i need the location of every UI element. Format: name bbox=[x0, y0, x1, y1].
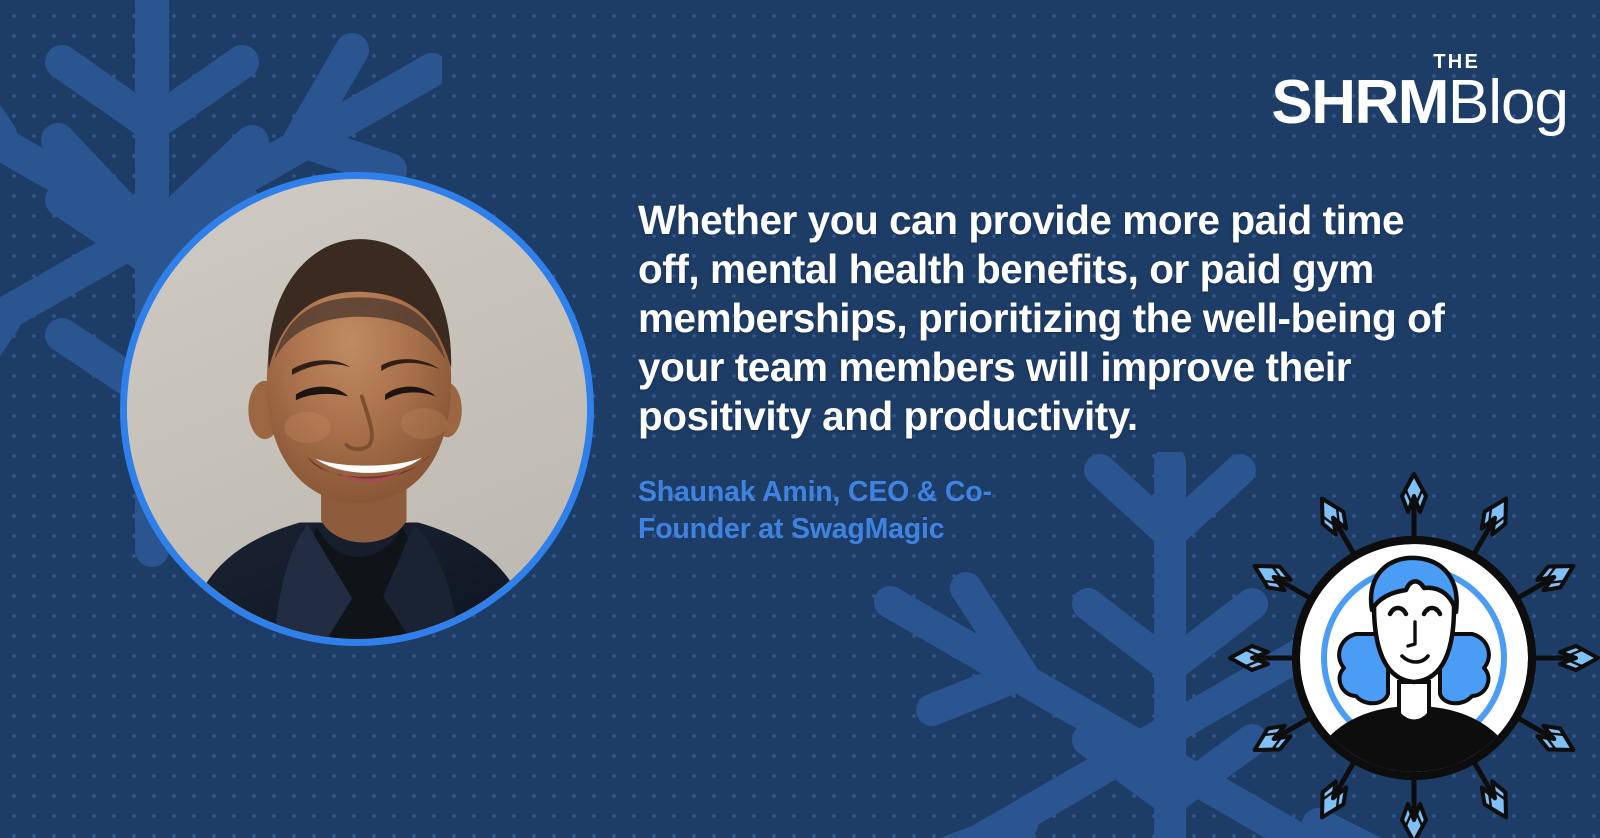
logo-wordmark: SHRMBlog bbox=[1271, 74, 1568, 133]
logo-brand: SHRM bbox=[1271, 68, 1448, 137]
target-arrows-illustration bbox=[1228, 450, 1600, 838]
portrait-ring bbox=[120, 172, 594, 646]
promo-graphic-canvas: THE SHRMBlog Whether you can provide mor… bbox=[0, 0, 1600, 838]
quote-text: Whether you can provide more paid time o… bbox=[638, 196, 1468, 441]
speaker-portrait bbox=[120, 172, 594, 646]
shrm-blog-logo: THE SHRMBlog bbox=[1271, 52, 1568, 133]
logo-suffix: Blog bbox=[1448, 68, 1568, 137]
portrait-clip bbox=[127, 179, 587, 639]
quote-attribution: Shaunak Amin, CEO & Co-Founder at SwagMa… bbox=[638, 474, 1058, 548]
